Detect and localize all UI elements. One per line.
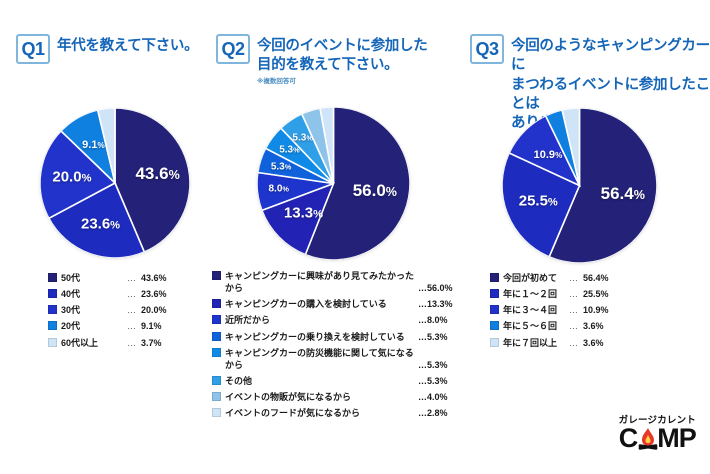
legend-value: 3.6% — [583, 337, 623, 349]
pie-chart-q3: 56.4%25.5%10.9% — [502, 108, 657, 263]
legend-swatch — [48, 305, 57, 314]
question-badge-q1: Q1 — [16, 34, 50, 64]
legend-item: 20代…9.1% — [48, 320, 218, 332]
question-column-q3: Q3 今回のようなキャンピングカーに まつわるイベントに参加したことは あります… — [462, 0, 710, 474]
legend-swatch — [212, 299, 221, 308]
legend-value: 43.6% — [141, 272, 181, 284]
legend-label: 20代 — [61, 320, 123, 332]
legend-value: …56.0% — [418, 282, 460, 294]
legend-label: 60代以上 — [61, 337, 123, 349]
legend-dots: … — [565, 272, 583, 284]
legend-label: 40代 — [61, 288, 123, 300]
legend-swatch — [490, 305, 499, 314]
legend-item: キャンピングカーの防災機能に関して気になるから…5.3% — [212, 347, 460, 371]
infographic-page: Q1 年代を教えて下さい。 43.6%23.6%20.0%9.1% 50代…43… — [0, 0, 710, 474]
question-note-q2: ※複数回答可 — [257, 78, 427, 86]
legend-item: 年に５～６回…3.6% — [490, 320, 690, 332]
question-badge-q2: Q2 — [216, 34, 250, 64]
legend-label: イベントの物販が気になるから — [225, 391, 418, 403]
legend-item: 年に３～４回…10.9% — [490, 304, 690, 316]
legend-value: 3.7% — [141, 337, 181, 349]
legend-label: 50代 — [61, 272, 123, 284]
legend-item: 60代以上…3.7% — [48, 337, 218, 349]
legend-value: …2.8% — [418, 407, 460, 419]
legend-label: 30代 — [61, 304, 123, 316]
legend-value: …5.3% — [418, 331, 460, 343]
legend-label: キャンピングカーの購入を検討している — [225, 298, 418, 310]
legend-item: その他…5.3% — [212, 375, 460, 387]
legend-swatch — [490, 273, 499, 282]
legend-value-wrap: …13.3% — [418, 298, 460, 310]
legend-swatch — [48, 273, 57, 282]
legend-label: 年に５～６回 — [503, 320, 565, 332]
logo-letters-mp: MP — [657, 423, 696, 453]
legend-value-wrap: …8.0% — [418, 314, 460, 326]
question-header-q2: Q2 今回のイベントに参加した 目的を教えて下さい。 ※複数回答可 — [216, 34, 460, 85]
question-header-q1: Q1 年代を教えて下さい。 — [16, 34, 222, 64]
legend-value: …4.0% — [418, 391, 460, 403]
legend-dots: … — [123, 304, 141, 316]
legend-label: 年に３～４回 — [503, 304, 565, 316]
legend-item: 年に７回以上…3.6% — [490, 337, 690, 349]
legend-q1: 50代…43.6%40代…23.6%30代…20.0%20代…9.1%60代以上… — [48, 272, 218, 353]
question-column-q1: Q1 年代を教えて下さい。 43.6%23.6%20.0%9.1% 50代…43… — [8, 0, 216, 474]
legend-swatch — [212, 315, 221, 324]
legend-label: 年に７回以上 — [503, 337, 565, 349]
legend-label: 近所だから — [225, 314, 418, 326]
legend-value: …8.0% — [418, 314, 460, 326]
legend-dots: … — [123, 320, 141, 332]
legend-value: 25.5% — [583, 288, 623, 300]
logo-main-text: C MP — [619, 426, 696, 452]
question-badge-q3: Q3 — [470, 34, 504, 64]
legend-dots: … — [565, 337, 583, 349]
legend-swatch — [490, 338, 499, 347]
legend-item: 今回が初めて…56.4% — [490, 272, 690, 284]
legend-swatch — [212, 332, 221, 341]
legend-value-wrap: …5.3% — [418, 331, 460, 343]
legend-swatch — [490, 289, 499, 298]
legend-item: イベントのフードが気になるから…2.8% — [212, 407, 460, 419]
question-title-q1: 年代を教えて下さい。 — [57, 34, 198, 56]
legend-swatch — [212, 348, 221, 357]
legend-dots: … — [565, 304, 583, 316]
pie-chart-q2: 56.0%13.3%8.0%5.3%5.3%5.3% — [257, 107, 410, 260]
question-column-q2: Q2 今回のイベントに参加した 目的を教えて下さい。 ※複数回答可 56.0%1… — [208, 0, 460, 474]
question-title-q2: 今回のイベントに参加した 目的を教えて下さい。 — [257, 34, 427, 76]
legend-item: 50代…43.6% — [48, 272, 218, 284]
legend-value-wrap: …2.8% — [418, 407, 460, 419]
legend-label: その他 — [225, 375, 418, 387]
legend-value-wrap: …4.0% — [418, 391, 460, 403]
legend-dots: … — [123, 288, 141, 300]
legend-value: 9.1% — [141, 320, 181, 332]
legend-value: 10.9% — [583, 304, 623, 316]
legend-q2: キャンピングカーに興味があり見てみたかったから…56.0%キャンピングカーの購入… — [212, 270, 460, 423]
legend-value: 23.6% — [141, 288, 181, 300]
legend-item: キャンピングカーの乗り換えを検討している…5.3% — [212, 331, 460, 343]
legend-swatch — [212, 408, 221, 417]
legend-value-wrap: …5.3% — [418, 375, 460, 387]
legend-dots: … — [123, 272, 141, 284]
legend-value: …5.3% — [418, 359, 460, 371]
legend-label: イベントのフードが気になるから — [225, 407, 418, 419]
legend-value: 3.6% — [583, 320, 623, 332]
legend-item: イベントの物販が気になるから…4.0% — [212, 391, 460, 403]
legend-value: …5.3% — [418, 375, 460, 387]
legend-value: 56.4% — [583, 272, 623, 284]
legend-item: 年に１～２回…25.5% — [490, 288, 690, 300]
legend-value: …13.3% — [418, 298, 460, 310]
legend-value: 20.0% — [141, 304, 181, 316]
legend-swatch — [212, 392, 221, 401]
legend-label: キャンピングカーに興味があり見てみたかったから — [225, 270, 418, 294]
legend-swatch — [48, 321, 57, 330]
legend-dots: … — [123, 337, 141, 349]
legend-swatch — [212, 271, 221, 280]
legend-value-wrap: …5.3% — [418, 347, 460, 371]
logo-letter-c: C — [619, 423, 638, 453]
legend-swatch — [490, 321, 499, 330]
legend-label: 年に１～２回 — [503, 288, 565, 300]
legend-swatch — [48, 289, 57, 298]
legend-value-wrap: …56.0% — [418, 270, 460, 294]
legend-item: キャンピングカーの購入を検討している…13.3% — [212, 298, 460, 310]
legend-item: キャンピングカーに興味があり見てみたかったから…56.0% — [212, 270, 460, 294]
legend-dots: … — [565, 320, 583, 332]
legend-item: 近所だから…8.0% — [212, 314, 460, 326]
legend-label: キャンピングカーの乗り換えを検討している — [225, 331, 418, 343]
legend-item: 40代…23.6% — [48, 288, 218, 300]
legend-item: 30代…20.0% — [48, 304, 218, 316]
legend-swatch — [48, 338, 57, 347]
legend-q3: 今回が初めて…56.4%年に１～２回…25.5%年に３～４回…10.9%年に５～… — [490, 272, 690, 353]
brand-logo: ガレージカレント C MP — [619, 416, 696, 453]
legend-swatch — [212, 376, 221, 385]
legend-label: 今回が初めて — [503, 272, 565, 284]
legend-dots: … — [565, 288, 583, 300]
pie-chart-q1: 43.6%23.6%20.0%9.1% — [40, 108, 190, 258]
legend-label: キャンピングカーの防災機能に関して気になるから — [225, 347, 418, 371]
